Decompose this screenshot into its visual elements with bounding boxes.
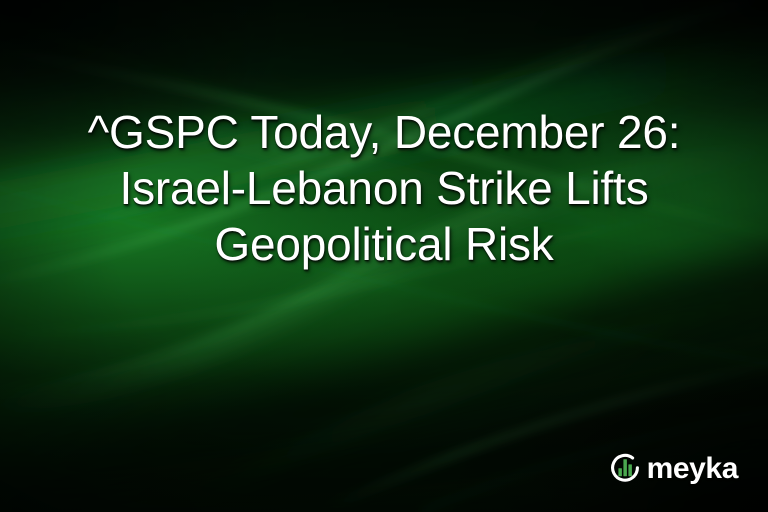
headline: ^GSPC Today, December 26: Israel-Lebanon… — [0, 104, 768, 272]
meyka-ring-bar-chart-icon — [608, 452, 642, 486]
headline-line-1: ^GSPC Today, December 26: — [26, 104, 742, 160]
headline-line-2: Israel-Lebanon Strike Lifts — [26, 160, 742, 216]
headline-line-3: Geopolitical Risk — [26, 216, 742, 272]
article-share-card: ^GSPC Today, December 26: Israel-Lebanon… — [0, 0, 768, 512]
brand-wordmark: meyka — [647, 454, 738, 484]
brand-logo[interactable]: meyka — [608, 452, 738, 486]
